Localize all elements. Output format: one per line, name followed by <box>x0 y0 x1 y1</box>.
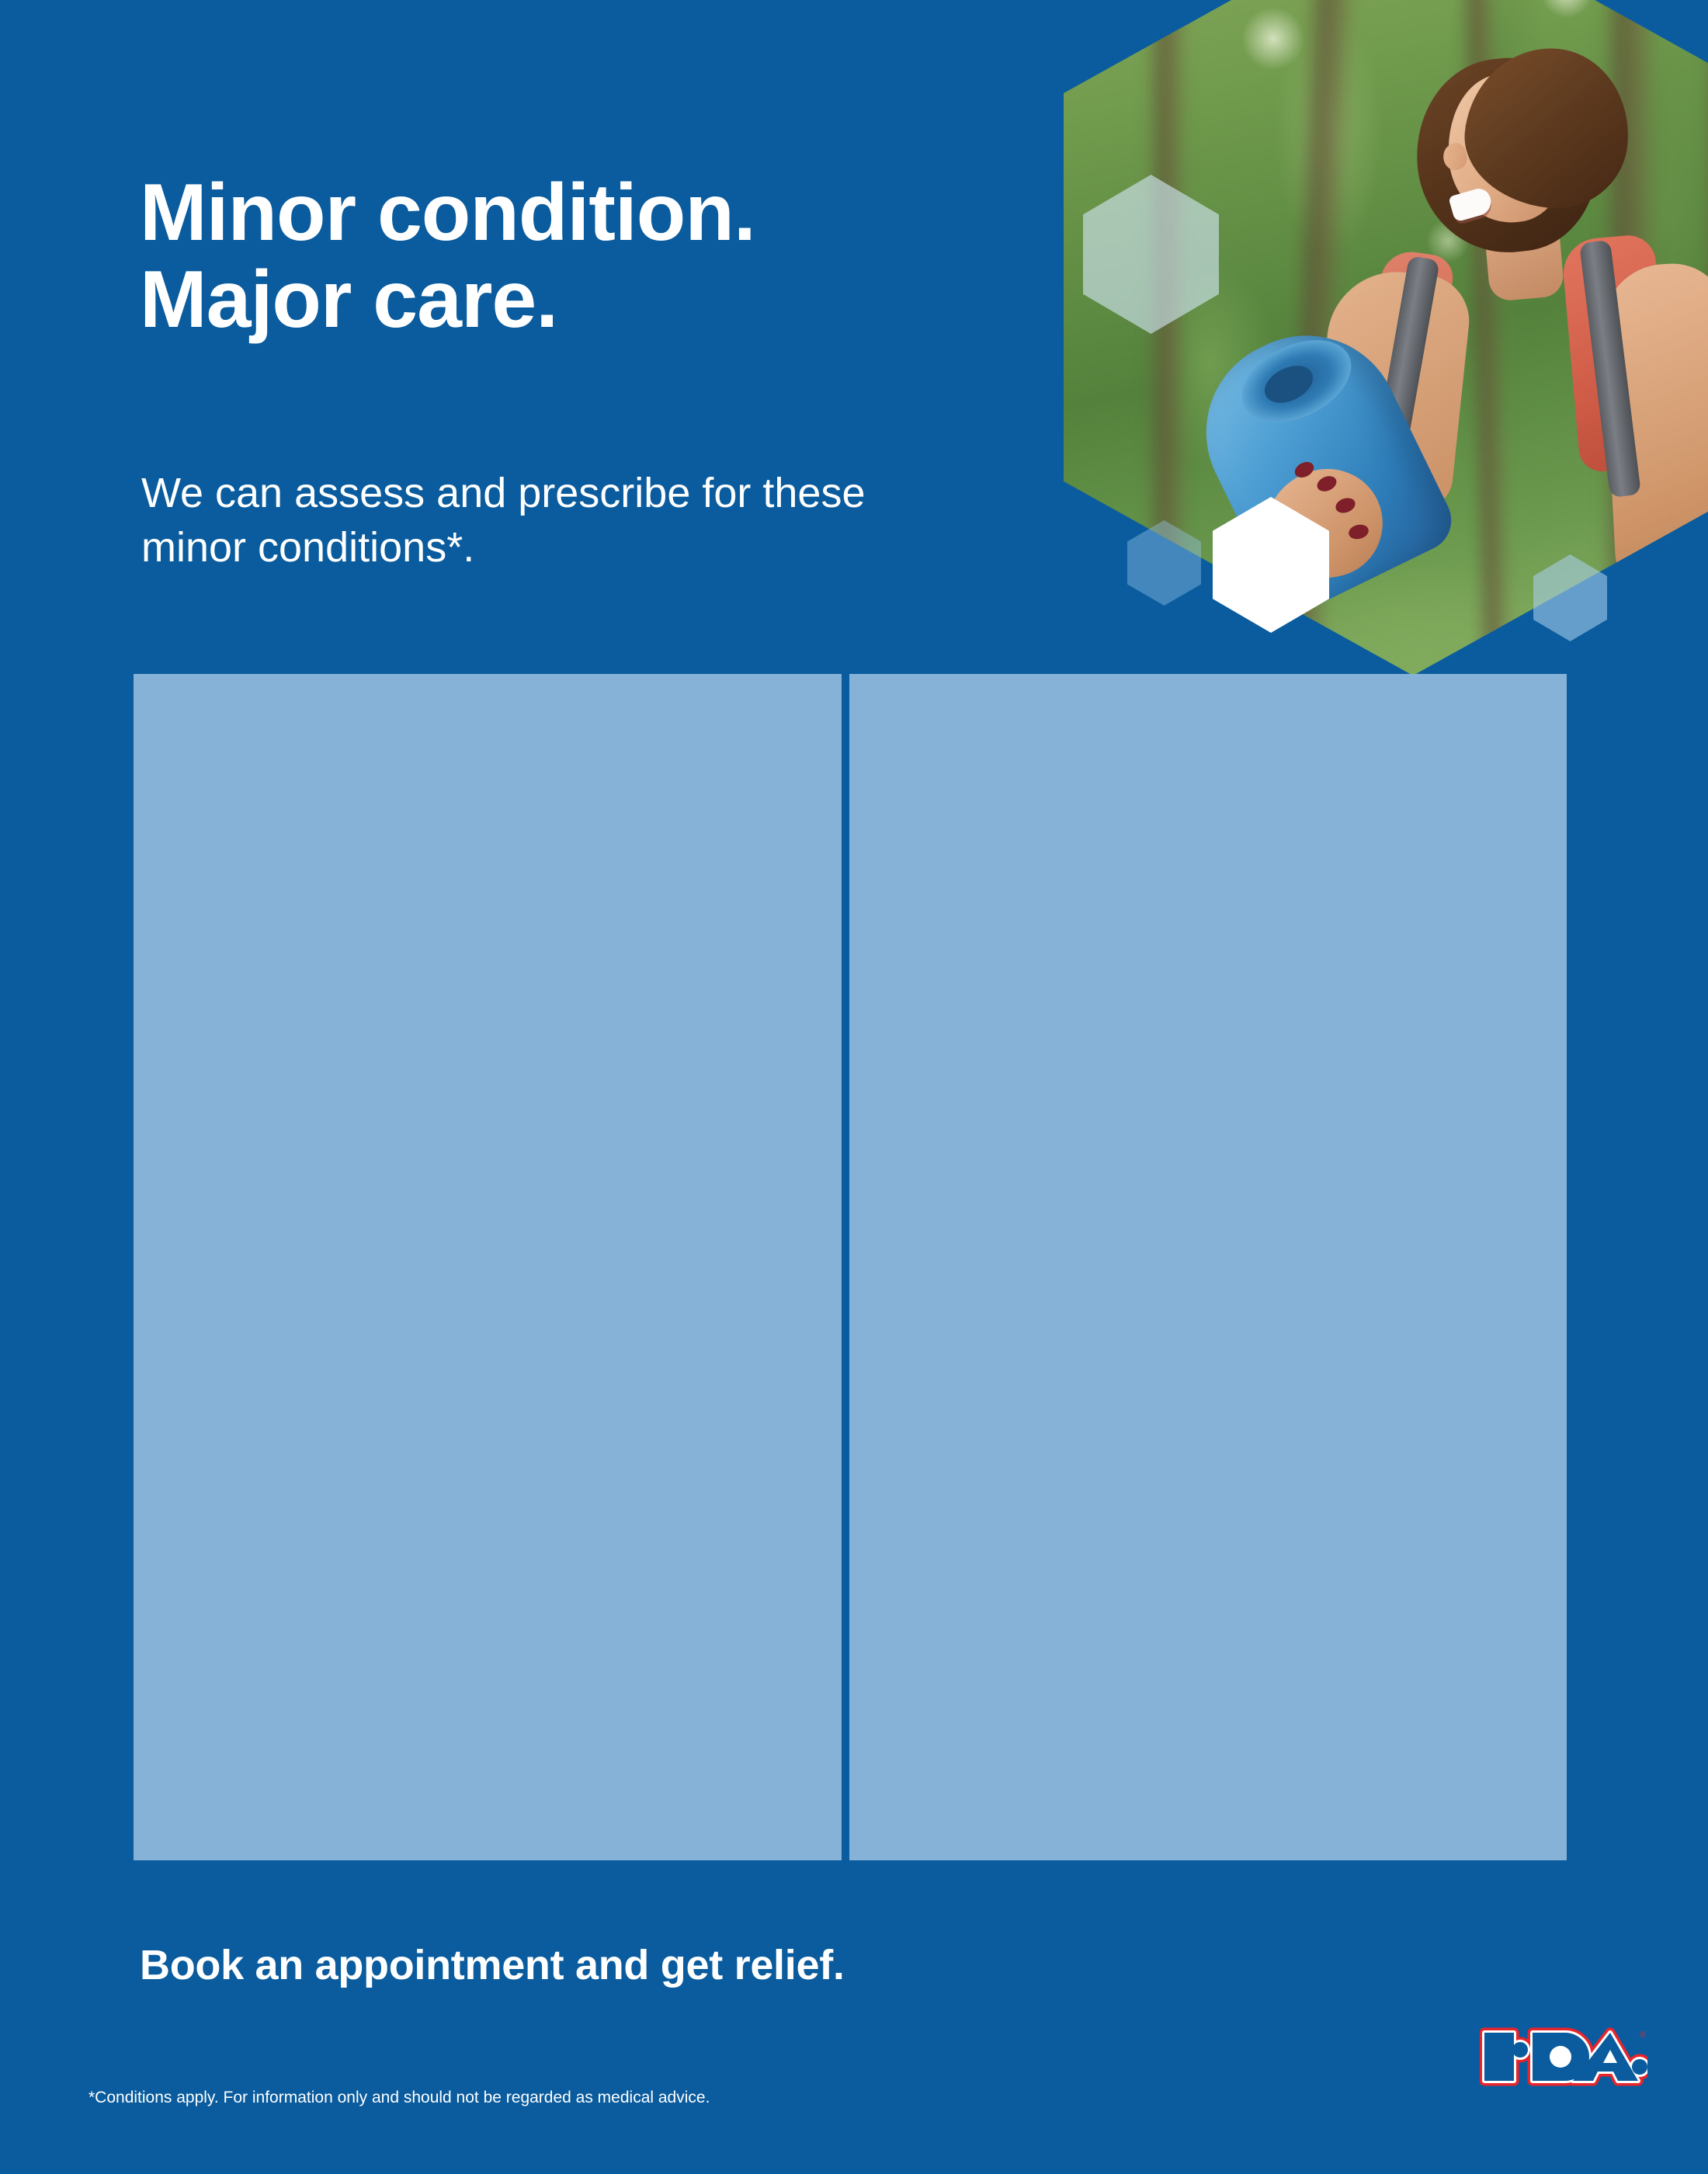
fingernail <box>1292 459 1316 481</box>
fingernail <box>1314 473 1338 494</box>
content-panels <box>134 674 1567 1860</box>
fingernail <box>1347 523 1370 541</box>
fingernail <box>1334 495 1358 516</box>
backpack-strap-left <box>1369 255 1439 490</box>
yoga-mat-inner <box>1228 324 1364 439</box>
disclaimer-text: *Conditions apply. For information only … <box>89 2089 710 2107</box>
hexagon-accent-white <box>1213 497 1329 633</box>
left-content-panel <box>134 674 842 1860</box>
smile <box>1448 186 1494 222</box>
tree-trunk <box>1602 0 1658 707</box>
eye <box>1468 131 1495 144</box>
eyebrow <box>1464 114 1501 130</box>
neck <box>1483 210 1564 302</box>
cta-text: Book an appointment and get relief. <box>140 1941 845 1989</box>
shoulder-left <box>1311 265 1474 511</box>
hexagon-accent-bottom-right <box>1533 554 1607 641</box>
backpack-right <box>1560 233 1674 473</box>
right-content-panel <box>849 674 1567 1860</box>
ida-logo: ® <box>1480 2025 1647 2090</box>
hexagon-accent-mid-left <box>1127 520 1201 606</box>
nose <box>1439 141 1470 173</box>
arm-right <box>1600 261 1708 593</box>
poster-canvas: Minor condition. Major care. We can asse… <box>0 0 1708 2174</box>
hair-back <box>1407 50 1606 262</box>
hexagon-accent-top-left <box>1083 175 1219 334</box>
hair-front <box>1457 40 1636 216</box>
head <box>1439 67 1574 229</box>
yoga-mat-core <box>1259 359 1320 411</box>
tree-trunk <box>1458 0 1514 707</box>
torso-tank-top <box>1335 243 1677 735</box>
page-subtitle: We can assess and prescribe for these mi… <box>141 466 1057 575</box>
registered-trademark-mark: ® <box>1640 2030 1646 2040</box>
backpack-left <box>1365 248 1455 396</box>
page-title: Minor condition. Major care. <box>140 169 1056 344</box>
backpack-strap-right <box>1579 240 1641 498</box>
